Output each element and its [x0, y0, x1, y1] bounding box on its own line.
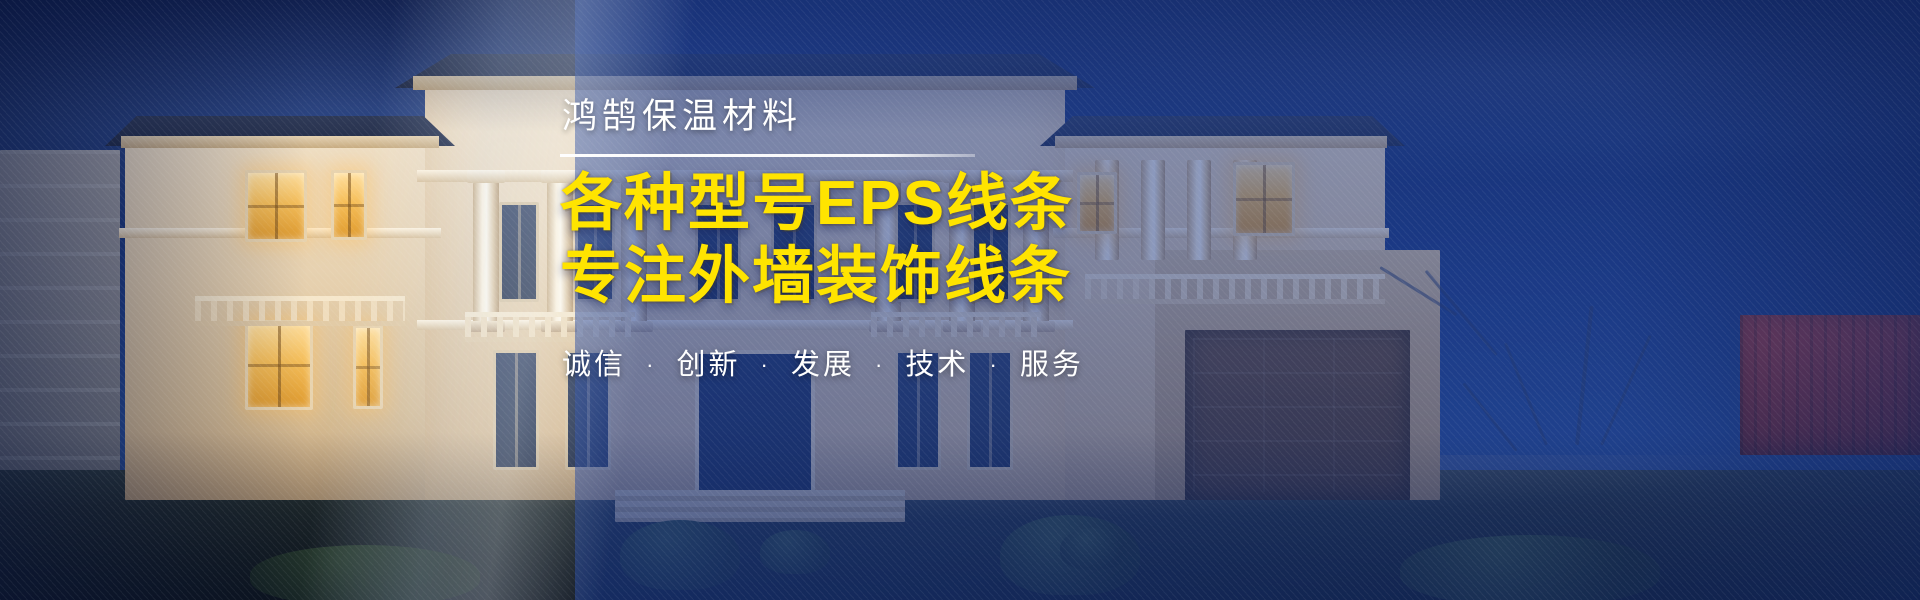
headline-line-2: 专注外墙装饰线条 — [560, 244, 1300, 311]
tagline-item-1: 诚信 — [562, 349, 626, 381]
headline-line-1: 各种型号EPS线条 — [560, 171, 1300, 238]
tagline-separator: · — [637, 352, 665, 377]
promo-banner: 鸿鹄保温材料 各种型号EPS线条 专注外墙装饰线条 诚信 · 创新 · 发展 ·… — [0, 0, 1920, 600]
tagline-separator: · — [752, 352, 780, 377]
tagline-item-2: 创新 — [676, 349, 740, 381]
tagline-separator: · — [980, 352, 1008, 377]
tagline-item-4: 技术 — [905, 349, 969, 381]
tagline: 诚信 · 创新 · 发展 · 技术 · 服务 — [562, 341, 1300, 383]
divider-rule — [560, 154, 975, 157]
banner-copy-block: 鸿鹄保温材料 各种型号EPS线条 专注外墙装饰线条 诚信 · 创新 · 发展 ·… — [560, 96, 1300, 383]
tagline-item-5: 服务 — [1020, 349, 1084, 381]
tagline-separator: · — [866, 352, 894, 377]
brand-name: 鸿鹄保温材料 — [562, 96, 1300, 138]
tagline-item-3: 发展 — [791, 349, 855, 381]
